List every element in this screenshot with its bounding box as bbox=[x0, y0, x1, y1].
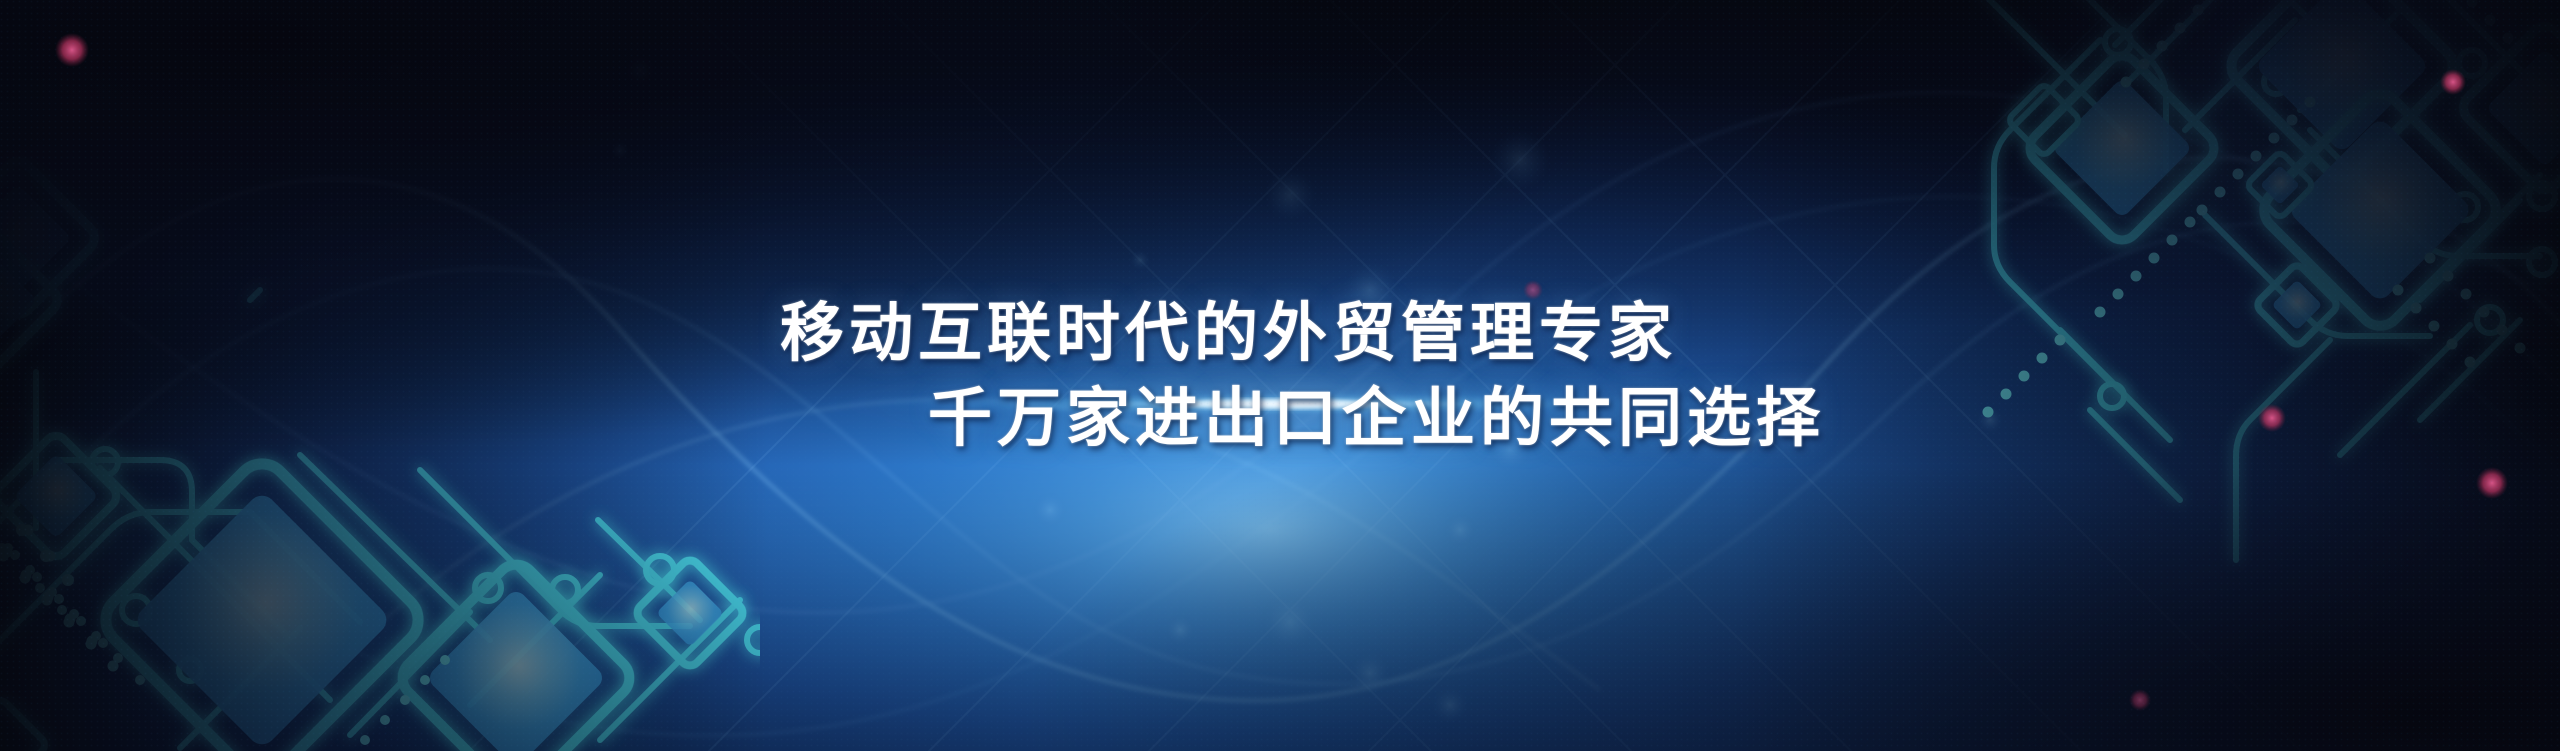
hero-banner: 移动互联时代的外贸管理专家 千万家进出口企业的共同选择 bbox=[0, 0, 2560, 751]
headline-line-2: 千万家进出口企业的共同选择 bbox=[928, 376, 1825, 460]
headline-line-1: 移动互联时代的外贸管理专家 bbox=[780, 291, 1677, 375]
headline-block: 移动互联时代的外贸管理专家 千万家进出口企业的共同选择 bbox=[0, 0, 2560, 751]
